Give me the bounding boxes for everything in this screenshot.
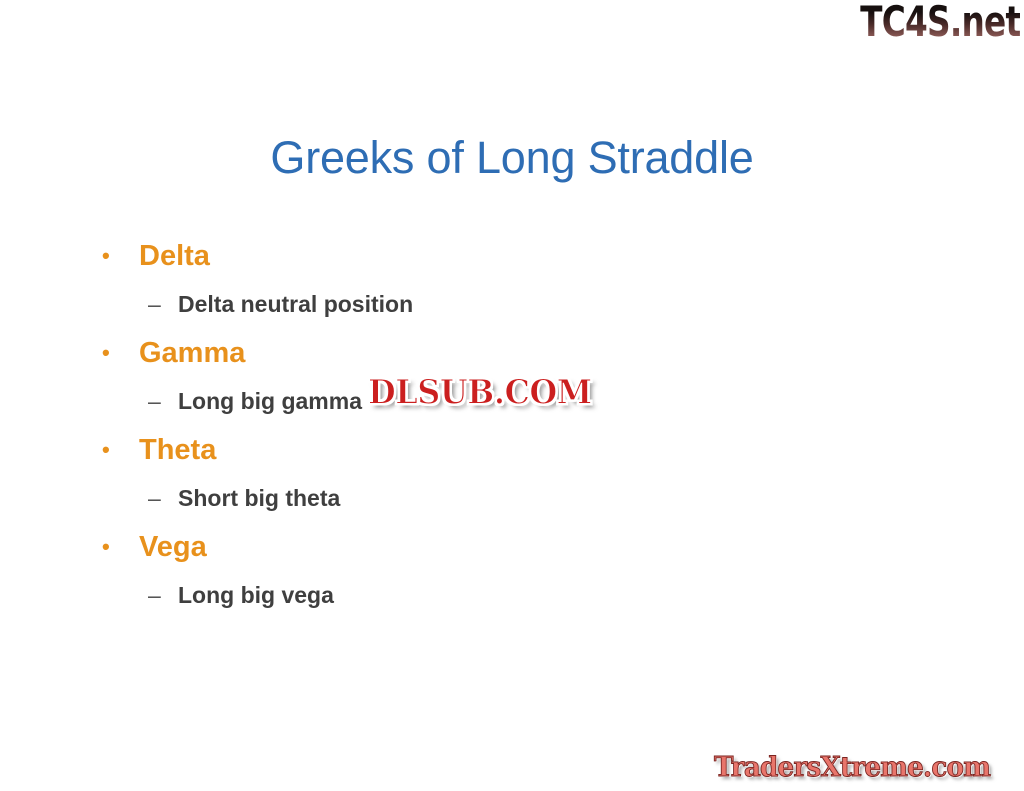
bullet-dot-icon: • xyxy=(102,523,110,571)
presentation-slide: TC4S.net Greeks of Long Straddle • Delta… xyxy=(0,0,1024,791)
bullet-label-theta: Theta xyxy=(139,434,216,466)
bullet-label-vega: Vega xyxy=(139,531,207,563)
page-title: Greeks of Long Straddle xyxy=(0,135,1024,180)
bullet-label-gamma: Gamma xyxy=(139,337,245,369)
dash-icon: – xyxy=(148,377,161,426)
bullet-item-delta: • Delta xyxy=(96,232,916,280)
dash-icon: – xyxy=(148,474,161,523)
bullet-dot-icon: • xyxy=(102,329,110,377)
sub-bullet-label-delta: Delta neutral position xyxy=(178,291,413,317)
bullet-dot-icon: • xyxy=(102,426,110,474)
tc4s-site-watermark: TC4S.net xyxy=(860,0,1020,46)
dash-icon: – xyxy=(148,571,161,620)
bullet-list: • Delta – Delta neutral position • Gamma… xyxy=(96,232,916,620)
bullet-item-vega: • Vega xyxy=(96,523,916,571)
dlsub-overlay-watermark: DLSUB.COM xyxy=(368,372,592,412)
dash-icon: – xyxy=(148,280,161,329)
sub-bullet-label-vega: Long big vega xyxy=(178,582,334,608)
bullet-label-delta: Delta xyxy=(139,240,210,272)
bullet-item-gamma: • Gamma xyxy=(96,329,916,377)
sub-bullet-item-theta: – Short big theta xyxy=(96,474,916,523)
sub-bullet-label-theta: Short big theta xyxy=(178,485,340,511)
tradersxtreme-brand-watermark: TradersXtreme.com xyxy=(714,752,990,783)
sub-bullet-item-vega: – Long big vega xyxy=(96,571,916,620)
sub-bullet-item-delta: – Delta neutral position xyxy=(96,280,916,329)
sub-bullet-label-gamma: Long big gamma xyxy=(178,388,362,414)
bullet-dot-icon: • xyxy=(102,232,110,280)
bullet-item-theta: • Theta xyxy=(96,426,916,474)
